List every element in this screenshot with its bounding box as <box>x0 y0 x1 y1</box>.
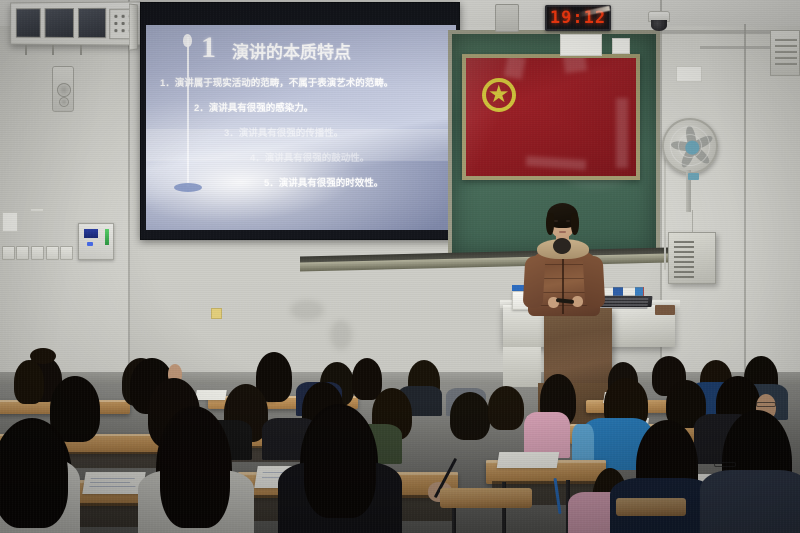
room-control-panel[interactable] <box>78 223 114 260</box>
slide-bullet: 3．演讲具有很强的传播性。 <box>146 125 456 139</box>
projected-slide: 1 演讲的本质特点 1．演讲属于现实活动的范畴，不属于表演艺术的范畴。 2．演讲… <box>146 25 456 230</box>
student-head <box>450 392 490 440</box>
slide-bullet-list: 1．演讲属于现实活动的范畴，不属于表演艺术的范畴。 2．演讲具有很强的感染力。 … <box>146 75 456 200</box>
light-switch[interactable] <box>46 246 59 260</box>
student-body <box>700 470 800 533</box>
av-equipment-cabinet <box>10 1 141 45</box>
chair-back <box>616 498 686 516</box>
status-led <box>87 242 93 246</box>
wall-speaker-icon <box>52 66 74 112</box>
slide-bullet: 4．演讲具有很强的鼓动性。 <box>146 150 456 164</box>
slide-bullet: 2．演讲具有很强的感染力。 <box>146 100 456 114</box>
notebook-page <box>195 390 227 400</box>
jacket-zipper <box>562 252 564 314</box>
slide-bullet: 1．演讲属于现实活动的范畴，不属于表演艺术的范畴。 <box>146 75 456 89</box>
fan-label <box>688 173 699 180</box>
chair-back <box>440 488 532 508</box>
wall-paper <box>676 66 702 82</box>
wall-speaker-icon <box>495 4 519 32</box>
microphone-icon <box>183 34 192 47</box>
light-switch[interactable] <box>16 246 29 260</box>
light-switch[interactable] <box>60 246 73 260</box>
wall-paper <box>2 212 18 232</box>
open-notebook <box>82 472 145 494</box>
left-wall <box>0 0 130 400</box>
open-notebook <box>497 452 560 468</box>
control-display <box>84 229 98 238</box>
student-hair <box>160 408 230 528</box>
student-hair <box>0 420 68 528</box>
star-icon: ★ <box>488 84 510 106</box>
status-led <box>105 229 109 245</box>
wall-mark <box>330 320 352 350</box>
youth-league-flag: ★ <box>462 54 640 180</box>
wall-mark <box>290 300 324 320</box>
cabinet-door[interactable] <box>129 3 138 50</box>
teacher-arm <box>523 256 546 309</box>
slide-bullet: 5．演讲具有很强的时效性。 <box>146 175 456 189</box>
wall-notice <box>560 34 602 56</box>
classroom-photo: 1 演讲的本质特点 1．演讲属于现实活动的范畴，不属于表演艺术的范畴。 2．演讲… <box>0 0 800 533</box>
wall-paper <box>30 208 44 212</box>
wall-seam <box>744 24 746 384</box>
sticky-note <box>211 308 222 319</box>
slide-title: 演讲的本质特点 <box>232 38 351 63</box>
electrical-panel <box>668 232 716 284</box>
student-head <box>14 360 44 404</box>
wall-outlet <box>612 38 630 54</box>
desk-item <box>655 305 675 315</box>
student-hair <box>304 406 376 518</box>
slide-number: 1 <box>201 31 215 65</box>
desk-side-panel <box>503 347 541 387</box>
projector-screen: 1 演讲的本质特点 1．演讲属于现实活动的范畴，不属于表演艺术的范畴。 2．演讲… <box>140 2 460 240</box>
student-head <box>352 358 382 400</box>
student-head <box>488 386 524 430</box>
ac-vent <box>770 30 800 76</box>
light-switch[interactable] <box>2 246 15 260</box>
dome-camera-lens <box>651 20 667 31</box>
wall-seam <box>128 0 130 400</box>
teacher-arm <box>583 256 606 309</box>
light-switch[interactable] <box>31 246 44 260</box>
